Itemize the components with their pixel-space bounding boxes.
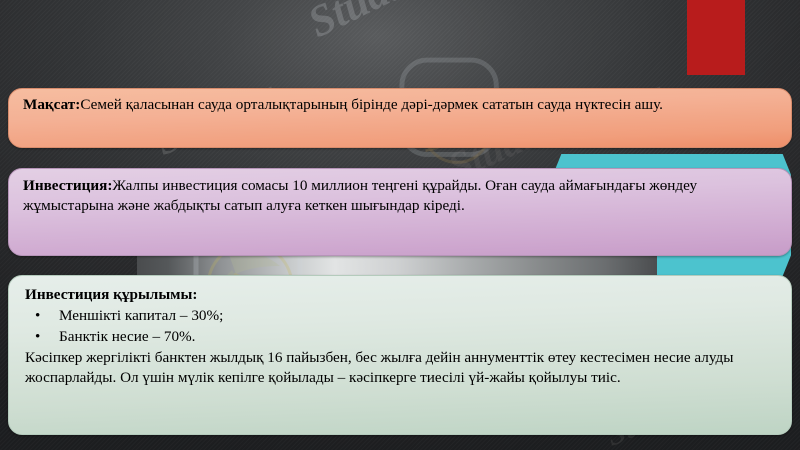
structure-bullet-list: • Меншікті капитал – 30%; • Банктік неси… [25,306,775,347]
bullet-glyph-icon: • [35,306,40,326]
list-item-label: Банктік несие – 70%. [59,328,195,345]
investment-label: Инвестиция: [23,177,112,194]
investment-callout-box: Инвестиция:Жалпы инвестиция сомасы 10 ми… [8,168,792,256]
red-accent-bar [687,0,745,75]
bullet-glyph-icon: • [35,327,40,347]
silver-accent-bar [137,256,657,275]
goal-body: Семей қаласынан сауда орталықтарының бір… [80,96,663,113]
structure-paragraph: Кәсіпкер жергілікті банктен жылдық 16 па… [25,348,775,388]
structure-heading: Инвестиция құрылымы: [25,285,775,305]
goal-label: Мақсат: [23,96,80,113]
list-item: • Меншікті капитал – 30%; [25,306,775,326]
investment-text-line: Инвестиция:Жалпы инвестиция сомасы 10 ми… [23,176,777,216]
list-item-label: Меншікті капитал – 30%; [59,307,223,324]
presentation-slide: Stud.kz - Stud. Stud.kz Stud.kz - Stud.k… [0,0,800,450]
list-item: • Банктік несие – 70%. [25,327,775,347]
goal-callout-box: Мақсат:Семей қаласынан сауда орталықтары… [8,88,792,148]
watermark-text: Stud.kz - Stud. [300,0,560,48]
investment-body: Жалпы инвестиция сомасы 10 миллион теңге… [23,177,697,214]
investment-structure-box: Инвестиция құрылымы: • Меншікті капитал … [8,275,792,435]
goal-text-line: Мақсат:Семей қаласынан сауда орталықтары… [23,95,777,115]
